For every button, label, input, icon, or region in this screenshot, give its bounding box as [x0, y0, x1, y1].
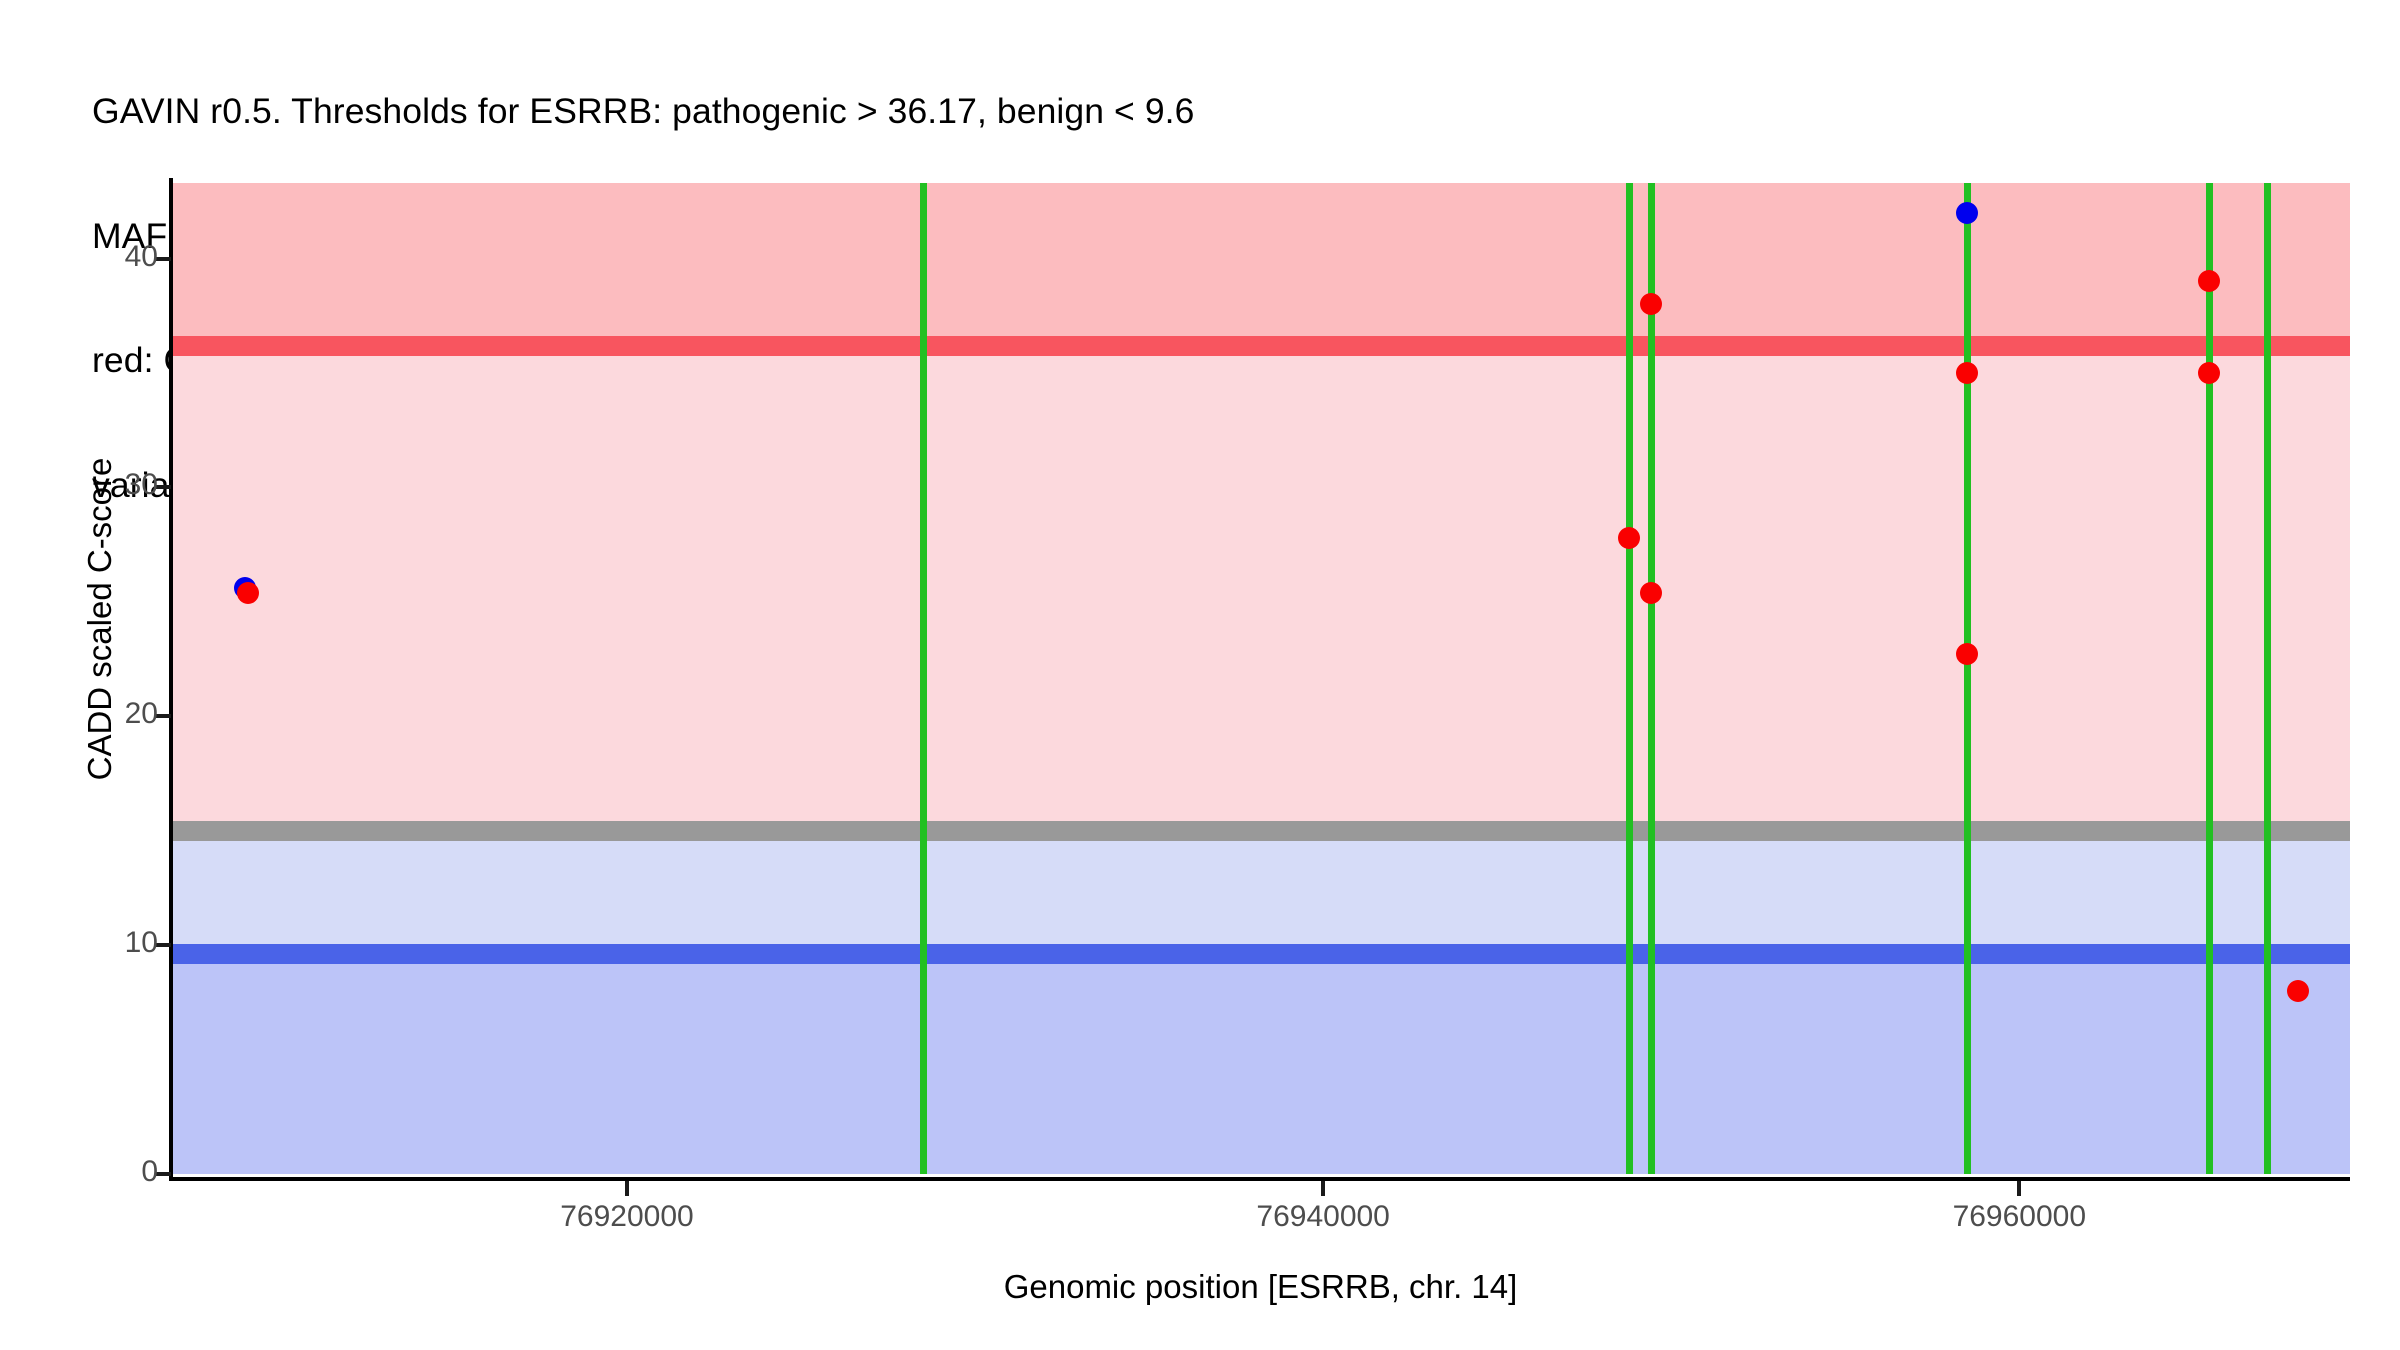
- gavin-cadd-scatter-figure: GAVIN r0.5. Thresholds for ESRRB: pathog…: [0, 0, 2400, 1350]
- x-axis-line: [169, 1177, 2350, 1181]
- x-axis-title: Genomic position [ESRRB, chr. 14]: [171, 1268, 2350, 1306]
- genome-wide-fallback-threshold-line: [171, 821, 2350, 841]
- x-tick-label: 76920000: [477, 1200, 777, 1234]
- x-tick-label: 76940000: [1173, 1200, 1473, 1234]
- refseq-exon-line: [920, 183, 927, 1174]
- x-tick-mark: [1321, 1181, 1325, 1196]
- x-tick-mark: [2017, 1181, 2021, 1196]
- refseq-exon-line: [2264, 183, 2271, 1174]
- x-tick-label: 76960000: [1869, 1200, 2169, 1234]
- refseq-exon-line: [1626, 183, 1633, 1174]
- benign-band: [171, 954, 2350, 1174]
- benign-upper-band: [171, 831, 2350, 955]
- clinvar-pathogenic-point: [1956, 362, 1978, 384]
- clinvar-pathogenic-point: [1640, 582, 1662, 604]
- pathogenic-band: [171, 183, 2350, 346]
- refseq-exon-line: [1964, 183, 1971, 1174]
- plot-panel: [171, 183, 2350, 1174]
- refseq-exon-line: [1648, 183, 1655, 1174]
- benign-threshold-line: [171, 944, 2350, 964]
- clinvar-pathogenic-point: [2198, 362, 2220, 384]
- gnomad-variant-point: [1956, 202, 1978, 224]
- y-tick-label: 0: [38, 1155, 158, 1189]
- clinvar-pathogenic-point: [237, 582, 259, 604]
- intermediate-band: [171, 346, 2350, 831]
- title-line-1: GAVIN r0.5. Thresholds for ESRRB: pathog…: [92, 91, 2342, 133]
- y-axis-line: [169, 178, 173, 1180]
- clinvar-pathogenic-point: [2287, 980, 2309, 1002]
- y-axis-title: CADD scaled C-score: [81, 219, 119, 1019]
- pathogenic-threshold-line: [171, 336, 2350, 356]
- x-tick-mark: [625, 1181, 629, 1196]
- plot-inner-area: [171, 183, 2350, 1174]
- refseq-exon-line: [2206, 183, 2213, 1174]
